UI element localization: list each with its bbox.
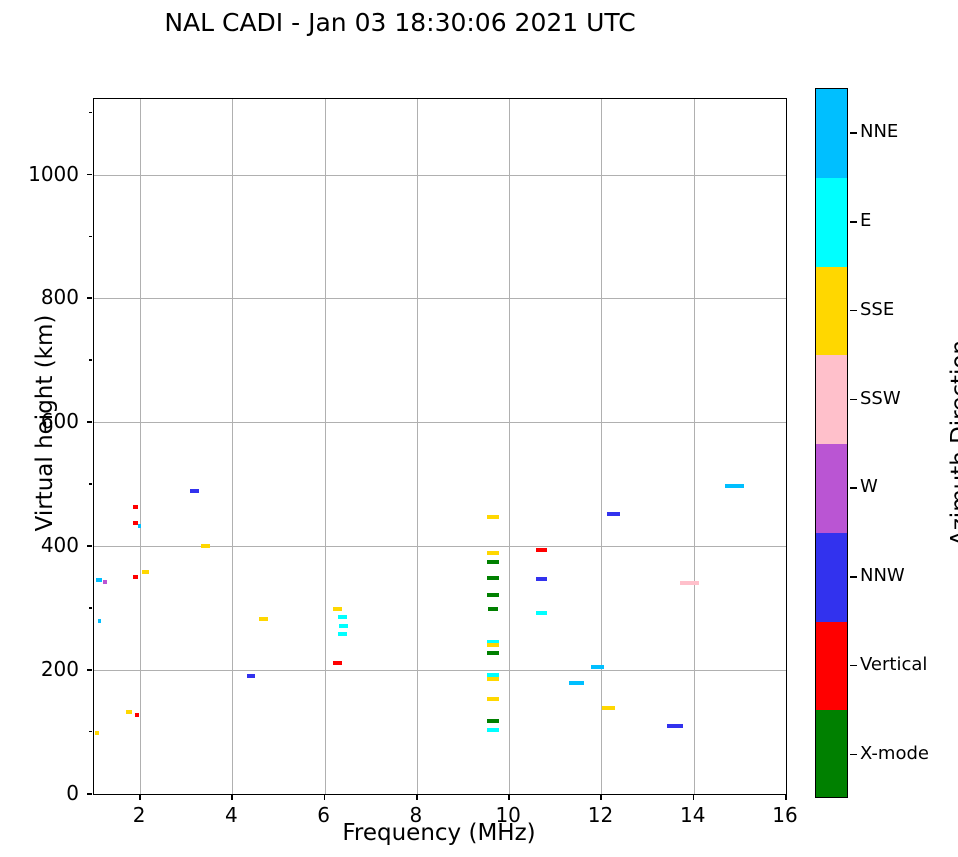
echo-trace-sse	[201, 544, 210, 548]
echo-trace-sse	[259, 617, 268, 621]
gridline-vertical	[325, 99, 326, 794]
gridline-horizontal	[94, 175, 786, 176]
echo-trace-x-mode	[487, 560, 499, 564]
colorbar-tick	[850, 665, 857, 667]
y-tick-mark	[87, 669, 92, 671]
gridline-horizontal	[94, 298, 786, 299]
colorbar-label-sse: SSE	[860, 301, 894, 319]
echo-trace-sse	[487, 697, 499, 701]
gridline-vertical	[601, 99, 602, 794]
colorbar-segment-sse	[816, 267, 847, 356]
gridline-vertical	[140, 99, 141, 794]
ionogram-figure: NAL CADI - Jan 03 18:30:06 2021 UTC 0200…	[0, 0, 958, 857]
colorbar-label-nne: NNE	[860, 123, 898, 141]
x-tick-mark	[139, 795, 141, 800]
colorbar	[815, 88, 848, 798]
plot-area	[94, 99, 786, 794]
y-tick-mark	[87, 545, 92, 547]
colorbar-label-nnw: NNW	[860, 567, 905, 585]
y-tick-minor	[89, 607, 92, 608]
colorbar-tick	[850, 487, 857, 489]
x-tick-mark	[231, 795, 233, 800]
gridline-horizontal	[94, 546, 786, 547]
echo-trace-nnw	[607, 512, 620, 516]
x-tick-mark	[324, 795, 326, 800]
colorbar-tick	[850, 132, 857, 134]
y-tick-label: 200	[9, 659, 79, 679]
echo-trace-sse	[126, 710, 132, 714]
echo-trace-sse	[142, 570, 149, 574]
echo-trace-e	[339, 624, 348, 628]
x-tick-mark	[693, 795, 695, 800]
y-tick-mark	[87, 421, 92, 423]
colorbar-segment-x-mode	[816, 710, 847, 798]
echo-trace-nne	[591, 665, 603, 669]
y-tick-minor	[89, 359, 92, 360]
colorbar-segment-nne	[816, 89, 847, 178]
gridline-vertical	[509, 99, 510, 794]
gridline-horizontal	[94, 422, 786, 423]
echo-trace-nnw	[536, 577, 547, 581]
x-tick-mark	[600, 795, 602, 800]
colorbar-segment-e	[816, 178, 847, 267]
y-tick-minor	[89, 112, 92, 113]
colorbar-tick	[850, 576, 857, 578]
echo-trace-vertical	[333, 661, 342, 665]
echo-trace-w	[103, 580, 107, 584]
echo-trace-e	[338, 615, 347, 619]
y-tick-mark	[87, 793, 92, 795]
colorbar-segment-nnw	[816, 533, 847, 622]
colorbar-tick	[850, 221, 857, 223]
echo-trace-sse	[487, 677, 499, 681]
colorbar-label-e: E	[860, 212, 871, 230]
colorbar-segment-w	[816, 444, 847, 533]
x-tick-mark	[508, 795, 510, 800]
echo-trace-nnw	[190, 489, 199, 493]
echo-trace-sse	[487, 515, 499, 519]
gridline-vertical	[694, 99, 695, 794]
y-tick-minor	[89, 236, 92, 237]
echo-trace-sse	[487, 551, 499, 555]
echo-trace-nne	[569, 681, 584, 685]
echo-trace-nne	[96, 578, 102, 582]
gridline-vertical	[417, 99, 418, 794]
echo-trace-sse	[333, 607, 342, 611]
echo-trace-x-mode	[487, 593, 499, 597]
echo-trace-nne	[725, 484, 743, 488]
colorbar-label-vertical: Vertical	[860, 656, 927, 674]
gridline-horizontal	[94, 670, 786, 671]
echo-trace-nnw	[667, 724, 683, 728]
echo-trace-x-mode	[487, 576, 499, 580]
y-tick-label: 0	[9, 783, 79, 803]
x-tick-mark	[416, 795, 418, 800]
colorbar-tick	[850, 399, 857, 401]
y-tick-minor	[89, 731, 92, 732]
echo-trace-vertical	[133, 521, 138, 525]
echo-trace-x-mode	[487, 651, 499, 655]
echo-trace-nne	[138, 524, 141, 528]
colorbar-label-ssw: SSW	[860, 390, 901, 408]
colorbar-label-w: W	[860, 478, 878, 496]
echo-trace-x-mode	[487, 719, 499, 723]
y-tick-mark	[87, 297, 92, 299]
colorbar-tick	[850, 754, 857, 756]
echo-trace-vertical	[133, 575, 138, 579]
echo-trace-sse	[487, 643, 499, 647]
colorbar-label: Azimuth Direction	[947, 243, 958, 643]
x-tick-mark	[785, 795, 787, 800]
echo-trace-e	[536, 611, 547, 615]
plot-frame	[93, 98, 787, 795]
colorbar-label-x-mode: X-mode	[860, 745, 929, 763]
echo-trace-ssw	[680, 581, 699, 585]
y-axis-label: Virtual height (km)	[32, 223, 58, 623]
echo-trace-e	[338, 632, 347, 636]
figure-title: NAL CADI - Jan 03 18:30:06 2021 UTC	[0, 8, 800, 37]
gridline-vertical	[232, 99, 233, 794]
y-tick-label: 1000	[9, 164, 79, 184]
colorbar-segment-ssw	[816, 355, 847, 444]
echo-trace-sse	[95, 731, 99, 735]
y-tick-minor	[89, 483, 92, 484]
echo-trace-nnw	[247, 674, 255, 678]
echo-trace-vertical	[135, 713, 140, 717]
echo-trace-x-mode	[488, 607, 498, 611]
y-tick-mark	[87, 174, 92, 176]
echo-trace-vertical	[133, 505, 138, 509]
echo-trace-e	[487, 728, 499, 732]
echo-trace-sse	[602, 706, 615, 710]
colorbar-segment-vertical	[816, 622, 847, 711]
x-axis-label: Frequency (MHz)	[93, 820, 785, 846]
colorbar-tick	[850, 310, 857, 312]
echo-trace-vertical	[536, 548, 547, 552]
echo-trace-nne	[98, 619, 102, 623]
